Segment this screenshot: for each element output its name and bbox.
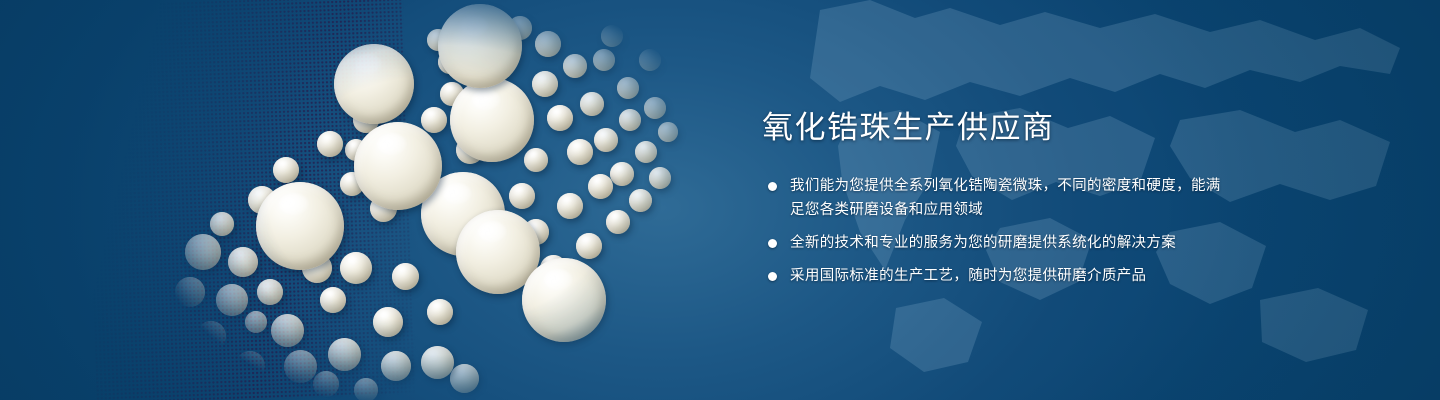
ceramic-bead [141, 285, 163, 307]
ceramic-bead [593, 49, 615, 71]
ceramic-bead [617, 77, 639, 99]
ceramic-bead [580, 92, 604, 116]
ceramic-bead [235, 351, 265, 381]
ceramic-bead [522, 258, 606, 342]
ceramic-bead [509, 183, 535, 209]
ceramic-bead [210, 212, 234, 236]
ceramic-bead [334, 44, 414, 124]
ceramic-bead [450, 364, 479, 393]
bullet-circle-icon [768, 182, 777, 191]
list-item-text: 全新的技术和专业的服务为您的研磨提供系统化的解决方案 [790, 235, 1176, 251]
ceramic-bead [635, 141, 657, 163]
ceramic-bead [256, 182, 344, 270]
ceramic-bead [196, 321, 226, 351]
ceramic-bead [547, 105, 573, 131]
ceramic-bead [245, 311, 267, 333]
ceramic-bead [381, 351, 411, 381]
ceramic-bead [588, 174, 613, 199]
bullet-circle-icon [768, 272, 777, 281]
ceramic-bead [438, 4, 522, 88]
ceramic-bead [373, 307, 403, 337]
ceramic-bead [606, 210, 630, 234]
ceramic-bead [649, 167, 671, 189]
ceramic-bead [450, 78, 534, 162]
ceramic-bead [340, 252, 372, 284]
ceramic-bead [639, 49, 661, 71]
ceramic-bead [216, 284, 248, 316]
ceramic-bead [228, 247, 258, 277]
ceramic-bead [427, 299, 453, 325]
ceramic-bead [644, 97, 666, 119]
feature-list: 我们能为您提供全系列氧化锆陶瓷微珠，不同的密度和硬度，能满足您各类研磨设备和应用… [762, 174, 1232, 288]
ceramic-bead [317, 131, 343, 157]
ceramic-bead [168, 348, 192, 372]
list-item: 采用国际标准的生产工艺，随时为您提供研磨介质产品 [762, 264, 1232, 288]
ceramic-bead [658, 122, 678, 142]
ceramic-bead [175, 277, 205, 307]
ceramic-bead [421, 107, 447, 133]
ceramic-bead [257, 279, 283, 305]
ceramic-bead [532, 71, 558, 97]
hero-banner: 氧化锆珠生产供应商 我们能为您提供全系列氧化锆陶瓷微珠，不同的密度和硬度，能满足… [0, 0, 1440, 400]
ceramic-bead [284, 350, 317, 383]
ceramic-bead [421, 346, 454, 379]
list-item: 全新的技术和专业的服务为您的研磨提供系统化的解决方案 [762, 231, 1232, 255]
ceramic-bead [524, 148, 548, 172]
ceramic-bead [535, 31, 561, 57]
ceramic-bead [159, 309, 186, 336]
ceramic-bead [392, 263, 419, 290]
ceramic-bead [328, 338, 361, 371]
ceramic-bead [594, 128, 618, 152]
ceramic-bead [271, 314, 304, 347]
ceramic-bead [313, 371, 339, 397]
ceramic-bead [629, 189, 652, 212]
ceramic-bead [563, 54, 587, 78]
page-title: 氧化锆珠生产供应商 [762, 108, 1232, 148]
ceramic-bead [185, 234, 221, 270]
zirconia-beads-photo [120, 0, 740, 400]
bullet-circle-icon [768, 239, 777, 248]
ceramic-bead [195, 363, 221, 389]
ceramic-bead [567, 139, 593, 165]
ceramic-bead [354, 378, 378, 400]
ceramic-bead [320, 287, 346, 313]
ceramic-bead [610, 162, 634, 186]
ceramic-bead [601, 25, 623, 47]
ceramic-bead [354, 122, 442, 210]
list-item-text: 采用国际标准的生产工艺，随时为您提供研磨介质产品 [790, 268, 1146, 284]
banner-content: 氧化锆珠生产供应商 我们能为您提供全系列氧化锆陶瓷微珠，不同的密度和硬度，能满足… [762, 108, 1232, 297]
ceramic-bead [273, 157, 299, 183]
ceramic-bead [619, 109, 641, 131]
list-item: 我们能为您提供全系列氧化锆陶瓷微珠，不同的密度和硬度，能满足您各类研磨设备和应用… [762, 174, 1232, 222]
list-item-text: 我们能为您提供全系列氧化锆陶瓷微珠，不同的密度和硬度，能满足您各类研磨设备和应用… [790, 178, 1221, 218]
ceramic-bead [557, 193, 583, 219]
ceramic-bead [576, 233, 602, 259]
